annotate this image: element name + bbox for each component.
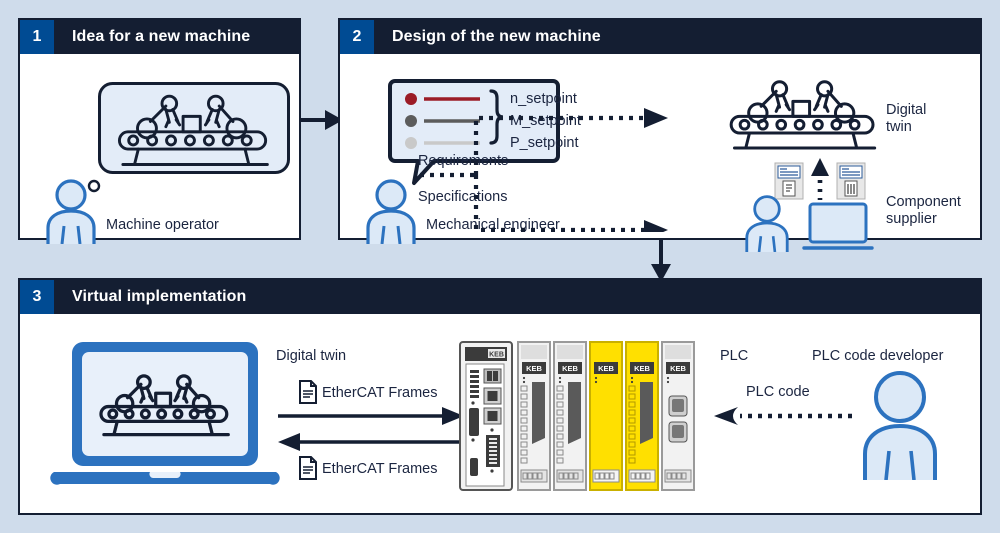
svg-text:KEB: KEB	[526, 364, 542, 373]
panel-3-body: Digital twin EtherCAT Frames Ethe	[20, 314, 980, 513]
machine-operator-avatar	[42, 178, 100, 244]
ethercat-document-icon-top	[298, 380, 318, 404]
digital-twin-panel3-label: Digital twin	[276, 348, 346, 365]
panel-2-title: Design of the new machine	[374, 20, 601, 54]
design-flow-dotted-path	[412, 82, 732, 232]
arrow-design-to-implementation	[648, 238, 674, 282]
panel-2-header: 2 Design of the new machine	[340, 20, 980, 54]
plc-code-label: PLC code	[746, 384, 810, 401]
panel-2-number: 2	[340, 20, 374, 54]
plc-module-rack: KEB	[458, 340, 712, 492]
svg-text:KEB: KEB	[598, 364, 614, 373]
svg-text:KEB: KEB	[634, 364, 650, 373]
digital-twin-machine-icon	[724, 76, 884, 154]
component-supplier-avatar	[738, 194, 796, 252]
supplier-datasheet-right-icon	[836, 162, 866, 200]
plc-code-developer-label: PLC code developer	[812, 348, 943, 365]
digital-twin-laptop	[50, 340, 280, 488]
panel-3-title: Virtual implementation	[54, 280, 246, 314]
plc-module-safety-2: KEB	[626, 342, 658, 490]
svg-text:KEB: KEB	[489, 352, 504, 359]
diagram-canvas: 1 Idea for a new machine	[0, 0, 1000, 533]
plc-module-controller: KEB	[460, 342, 512, 490]
supplier-upload-arrow	[810, 158, 830, 202]
ethercat-document-icon-bottom	[298, 456, 318, 480]
panel-1-body: Machine operator	[20, 54, 299, 238]
panel-1-number: 1	[20, 20, 54, 54]
component-supplier-label: Component supplier	[886, 194, 961, 228]
panel-idea: 1 Idea for a new machine	[18, 18, 301, 240]
digital-twin-label: Digital twin	[886, 102, 926, 136]
ethercat-arrow-right	[278, 406, 464, 426]
plc-module-io-2: KEB	[554, 342, 586, 490]
panel-1-header: 1 Idea for a new machine	[20, 20, 299, 54]
panel-2-body: n_setpoint M_setpoint P_setpoint Mechani…	[340, 54, 980, 238]
component-supplier-laptop	[802, 202, 874, 254]
plc-label: PLC	[720, 348, 748, 365]
panel-1-title: Idea for a new machine	[54, 20, 250, 54]
plc-module-network: KEB	[662, 342, 694, 490]
plc-code-arrow	[714, 406, 852, 426]
svg-text:KEB: KEB	[562, 364, 578, 373]
plc-module-io-1: KEB	[518, 342, 550, 490]
panel-design: 2 Design of the new machine n_setpoint M…	[338, 18, 982, 240]
ethercat-frames-label-top: EtherCAT Frames	[322, 385, 438, 402]
panel-virtual-implementation: 3 Virtual implementation	[18, 278, 982, 515]
ethercat-arrow-left	[278, 432, 464, 452]
ethercat-frames-label-bottom: EtherCAT Frames	[322, 461, 438, 478]
arrow-idea-to-design	[299, 108, 343, 132]
machine-illustration-box	[98, 82, 290, 174]
panel-3-number: 3	[20, 280, 54, 314]
plc-module-safety-1: KEB	[590, 342, 622, 490]
machine-operator-label: Machine operator	[106, 217, 219, 234]
panel-3-header: 3 Virtual implementation	[20, 280, 980, 314]
plc-code-developer-avatar	[858, 370, 942, 480]
svg-text:KEB: KEB	[670, 364, 686, 373]
